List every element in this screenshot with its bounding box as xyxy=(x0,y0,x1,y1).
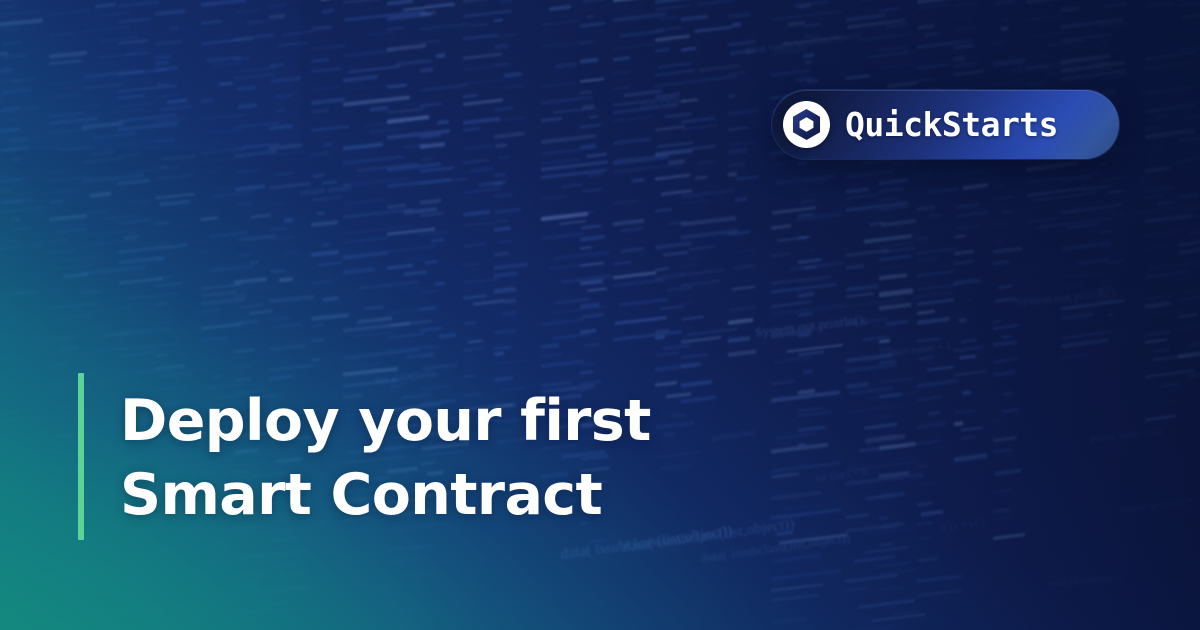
quickstarts-badge-label: QuickStarts xyxy=(845,108,1058,141)
headline-accent-bar xyxy=(78,373,84,540)
chainlink-hexagon-icon xyxy=(783,101,830,148)
quickstarts-badge[interactable]: QuickStarts xyxy=(772,90,1119,159)
quickstarts-banner: System.out.println();System.out.println(… xyxy=(0,0,1200,630)
banner-content: QuickStarts Deploy your first Smart Cont… xyxy=(0,0,1200,630)
page-title-line-2: Smart Contract xyxy=(120,458,760,532)
page-title: Deploy your first Smart Contract xyxy=(120,384,760,532)
page-title-line-1: Deploy your first xyxy=(120,384,760,458)
